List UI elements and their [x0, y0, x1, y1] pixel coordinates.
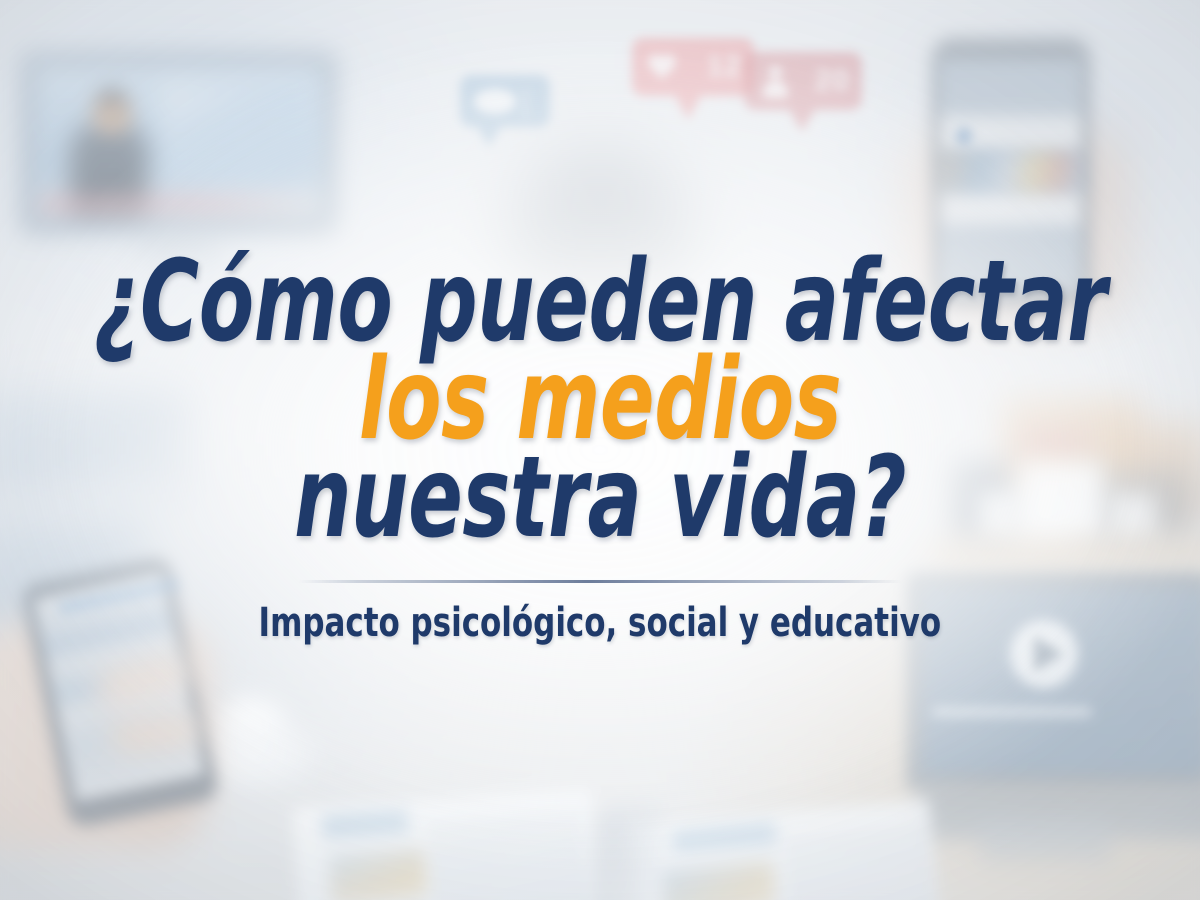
subtitle: Impacto psicológico, social y educativo	[259, 600, 942, 646]
slide-canvas: 12 20	[0, 0, 1200, 900]
page-title: ¿Cómo pueden afectar los medios nuestra …	[0, 246, 1200, 554]
title-block: ¿Cómo pueden afectar los medios nuestra …	[0, 0, 1200, 900]
headline-line-3: nuestra vida?	[94, 442, 1107, 554]
title-divider	[298, 580, 902, 583]
